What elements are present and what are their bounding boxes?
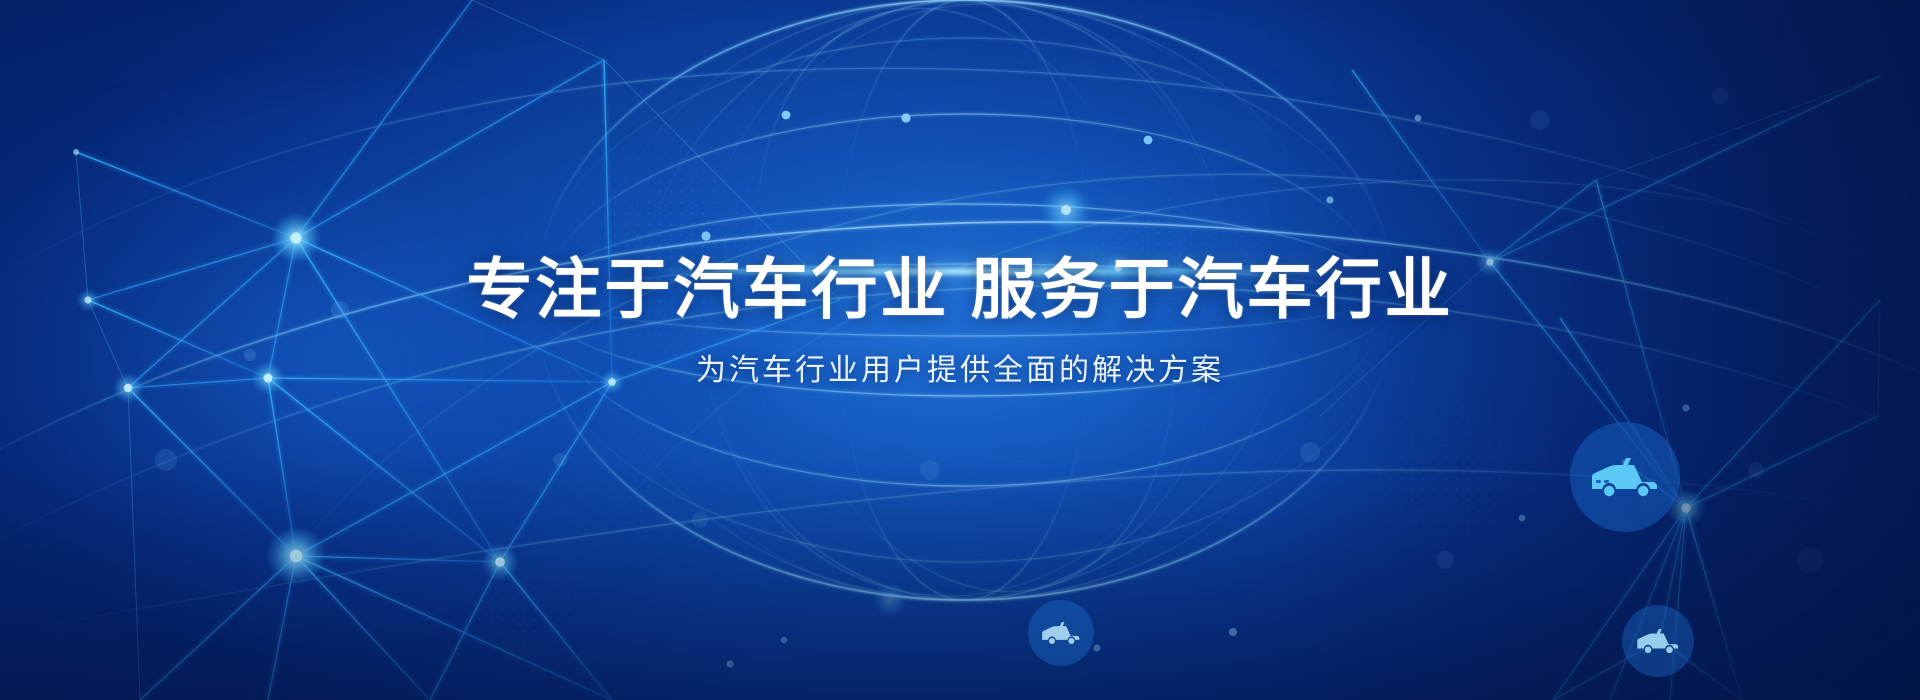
- hero-headline: 专注于汽车行业 服务于汽车行业: [466, 253, 1453, 327]
- hero-banner: 专注于汽车行业 服务于汽车行业 为汽车行业用户提供全面的解决方案: [0, 0, 1920, 700]
- hero-copy-block: 专注于汽车行业 服务于汽车行业 为汽车行业用户提供全面的解决方案: [0, 0, 1920, 700]
- hero-subheadline: 为汽车行业用户提供全面的解决方案: [696, 345, 1224, 389]
